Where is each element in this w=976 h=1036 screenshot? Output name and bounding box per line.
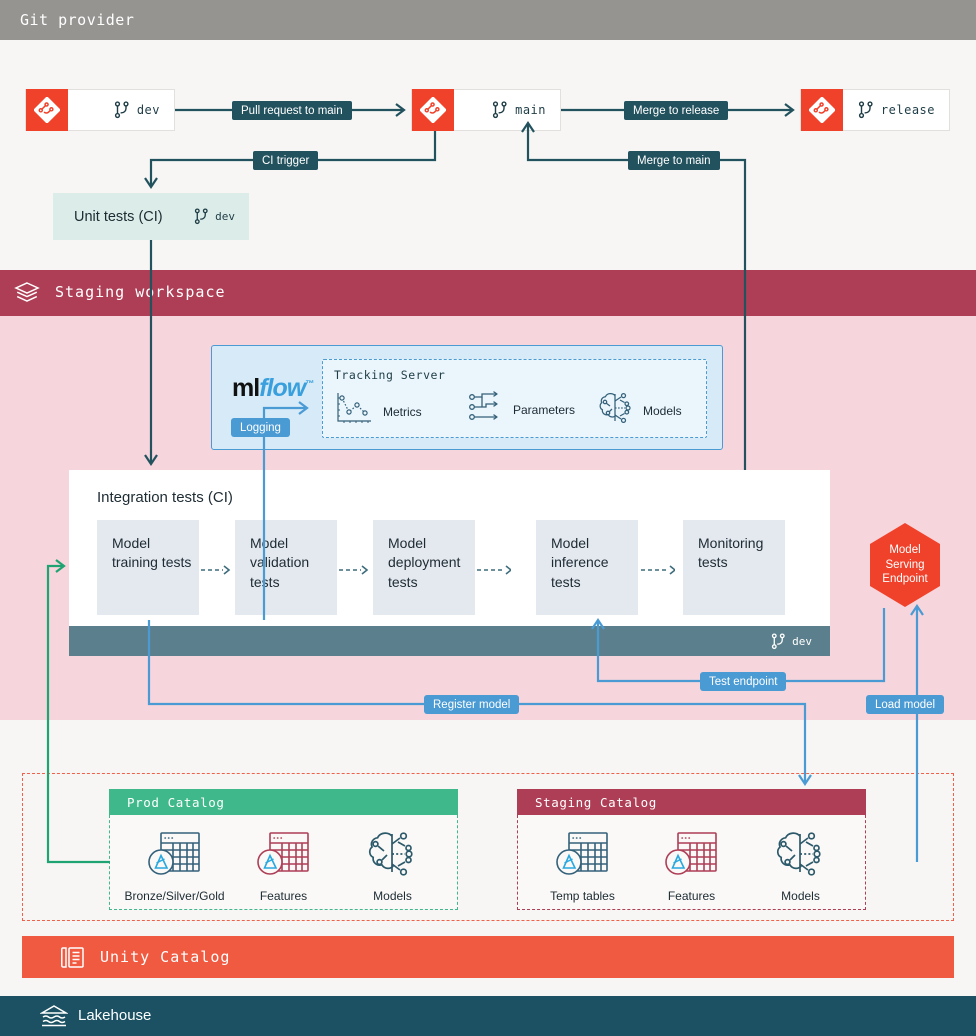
pill-pull-request-to-main[interactable]: Pull request to main <box>232 101 352 120</box>
lakehouse-label: Lakehouse <box>78 1007 151 1024</box>
branch-name: dev <box>137 103 160 117</box>
unit-tests-branch: dev <box>194 208 235 225</box>
mlflow-item-metrics[interactable]: Metrics <box>334 391 422 432</box>
mlflow-item-models[interactable]: Models <box>598 391 682 430</box>
repo-main-branch: main <box>454 101 560 119</box>
staging-catalog: Staging Catalog Temp tables <box>517 789 866 910</box>
prod-cell-bronze-silver-gold[interactable]: Bronze/Silver/Gold <box>134 829 216 903</box>
pill-test-endpoint[interactable]: Test endpoint <box>700 672 786 691</box>
prod-catalog-body: Bronze/Silver/Gold Features <box>109 815 458 910</box>
branch-name: dev <box>792 635 812 648</box>
brain-circuit-icon <box>775 829 827 884</box>
repo-dev-branch: dev <box>68 101 174 119</box>
staging-cell-features[interactable]: Features <box>651 829 733 903</box>
step-arrow-4 <box>641 565 675 575</box>
prod-catalog: Prod Catalog Bronze/Silver/Gold <box>109 789 458 910</box>
prod-cell-models[interactable]: Models <box>352 829 434 903</box>
git-branch-icon <box>194 208 209 225</box>
staging-catalog-title: Staging Catalog <box>517 789 866 815</box>
repo-release-branch: release <box>843 101 949 119</box>
branch-name: main <box>515 103 546 117</box>
step-model-deployment-tests[interactable]: Model deployment tests <box>373 520 475 615</box>
unit-tests-label: Unit tests (CI) <box>74 209 163 225</box>
pill-merge-to-release[interactable]: Merge to release <box>624 101 728 120</box>
prod-catalog-title: Prod Catalog <box>109 789 458 815</box>
mlflow-logo: mlflow™ <box>232 374 313 403</box>
step-arrow-2 <box>339 565 373 575</box>
step-model-inference-tests[interactable]: Model inference tests <box>536 520 638 615</box>
delta-feature-table-icon <box>256 829 312 884</box>
git-branch-icon <box>771 633 786 650</box>
cell-label: Models <box>373 889 412 903</box>
lakehouse-band: Lakehouse <box>0 996 976 1036</box>
integration-tests-title: Integration tests (CI) <box>97 489 233 506</box>
pill-merge-to-main[interactable]: Merge to main <box>628 151 720 170</box>
unity-catalog-band: Unity Catalog <box>22 936 954 978</box>
tracking-server-group: Tracking Server Metrics <box>322 359 707 438</box>
pill-register-model[interactable]: Register model <box>424 695 519 714</box>
repo-main[interactable]: main <box>411 89 561 131</box>
git-branch-icon <box>858 101 874 119</box>
pill-load-model[interactable]: Load model <box>866 695 944 714</box>
parameters-tree-icon <box>468 391 504 428</box>
layers-icon <box>14 281 40 310</box>
step-model-training-tests[interactable]: Model training tests <box>97 520 199 615</box>
git-branch-icon <box>114 101 130 119</box>
repo-dev[interactable]: dev <box>25 89 175 131</box>
cell-label: Bronze/Silver/Gold <box>124 889 224 903</box>
integration-tests-branch-bar: dev <box>69 626 830 656</box>
mlflow-item-label: Models <box>643 404 682 418</box>
tracking-server-title: Tracking Server <box>334 368 445 382</box>
staging-workspace-band: Staging workspace <box>0 270 976 316</box>
mlflow-item-parameters[interactable]: Parameters <box>468 391 575 428</box>
step-monitoring-tests[interactable]: Monitoring tests <box>683 520 785 615</box>
prod-cell-features[interactable]: Features <box>243 829 325 903</box>
model-serving-endpoint[interactable]: Model Serving Endpoint <box>868 522 942 608</box>
branch-name: dev <box>215 210 235 223</box>
step-arrow-1 <box>201 565 235 575</box>
git-logo-icon <box>412 89 454 131</box>
mlflow-item-label: Parameters <box>513 403 575 417</box>
delta-feature-table-icon <box>664 829 720 884</box>
cell-label: Features <box>260 889 307 903</box>
git-branch-icon <box>492 101 508 119</box>
brain-circuit-icon <box>367 829 419 884</box>
pill-ci-trigger[interactable]: CI trigger <box>253 151 318 170</box>
delta-table-icon <box>147 829 203 884</box>
mlflow-item-label: Metrics <box>383 405 422 419</box>
delta-table-icon <box>555 829 611 884</box>
step-model-validation-tests[interactable]: Model validation tests <box>235 520 337 615</box>
staging-catalog-body: Temp tables Features <box>517 815 866 910</box>
step-arrow-3 <box>477 565 511 575</box>
staging-cell-temp-tables[interactable]: Temp tables <box>542 829 624 903</box>
branch-name: release <box>881 103 935 117</box>
git-provider-label: Git provider <box>20 11 134 29</box>
pill-logging[interactable]: Logging <box>231 418 290 437</box>
integration-tests-box: Integration tests (CI) Model training te… <box>69 470 830 656</box>
unity-catalog-label: Unity Catalog <box>100 948 230 966</box>
staging-cell-models[interactable]: Models <box>760 829 842 903</box>
cell-label: Temp tables <box>550 889 615 903</box>
git-logo-icon <box>26 89 68 131</box>
repo-release[interactable]: release <box>800 89 950 131</box>
line-chart-icon <box>334 391 374 432</box>
catalog-book-icon <box>60 946 86 974</box>
git-provider-band: Git provider <box>0 0 976 40</box>
git-logo-icon <box>801 89 843 131</box>
unit-tests-box[interactable]: Unit tests (CI) dev <box>53 193 249 240</box>
cell-label: Models <box>781 889 820 903</box>
lakehouse-icon <box>40 1004 68 1033</box>
cell-label: Features <box>668 889 715 903</box>
brain-circuit-icon <box>598 391 634 430</box>
model-serving-endpoint-label: Model Serving Endpoint <box>868 522 942 608</box>
staging-workspace-label: Staging workspace <box>55 283 226 301</box>
